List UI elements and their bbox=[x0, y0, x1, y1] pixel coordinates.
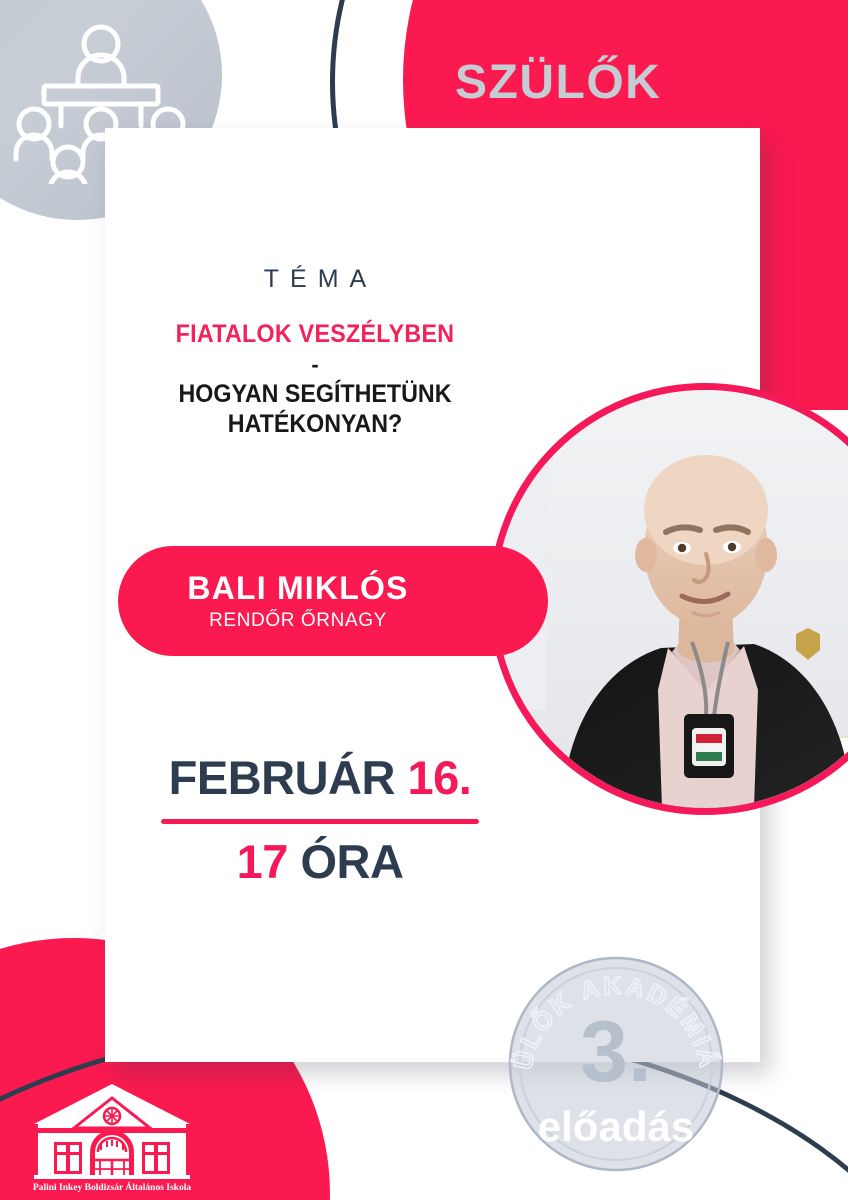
poster-canvas: SZÜLŐK AKADÉMIÁJA TÉMA FIATALOK VESZÉLYB… bbox=[0, 0, 848, 1200]
event-date-block: FEBRUÁR 16. 17 ÓRA bbox=[125, 750, 515, 889]
seal-number: 3. bbox=[580, 1004, 652, 1100]
brand-title-line1: SZÜLŐK bbox=[455, 55, 795, 110]
seal-caption: előadás bbox=[538, 1103, 694, 1150]
brand-title: SZÜLŐK AKADÉMIÁJA bbox=[455, 55, 795, 192]
topic-dash: - bbox=[105, 352, 525, 378]
date-divider bbox=[161, 819, 479, 824]
speaker-name-pill: BALI MIKLÓS RENDŐR ŐRNAGY bbox=[118, 546, 548, 656]
speaker-rank: RENDŐR ŐRNAGY bbox=[209, 610, 387, 632]
speaker-photo-inner bbox=[496, 390, 848, 808]
school-name: Palini Inkey Boldizsár Általános Iskola bbox=[33, 1181, 191, 1192]
school-building-icon: Palini Inkey Boldizsár Általános Iskola bbox=[22, 1072, 202, 1192]
event-date-row: FEBRUÁR 16. bbox=[125, 750, 515, 805]
brand-title-line2: AKADÉMIÁJA bbox=[455, 144, 795, 192]
event-month: FEBRUÁR bbox=[169, 751, 395, 804]
event-hour-unit: ÓRA bbox=[300, 835, 403, 888]
topic-block: TÉMA FIATALOK VESZÉLYBEN - HOGYAN SEGÍTH… bbox=[105, 265, 525, 439]
event-hour: 17 bbox=[237, 835, 288, 888]
topic-label: TÉMA bbox=[105, 265, 525, 294]
event-day: 16. bbox=[408, 751, 472, 804]
edition-seal-badge: SZÜLŐK AKADÉMIÁJA 3. előadás bbox=[505, 953, 727, 1175]
event-time-row: 17 ÓRA bbox=[125, 834, 515, 889]
topic-line-primary: FIATALOK VESZÉLYBEN bbox=[120, 320, 511, 349]
speaker-name: BALI MIKLÓS bbox=[187, 570, 408, 607]
topic-line-secondary: HOGYAN SEGÍTHETÜNK HATÉKONYAN? bbox=[120, 380, 511, 439]
